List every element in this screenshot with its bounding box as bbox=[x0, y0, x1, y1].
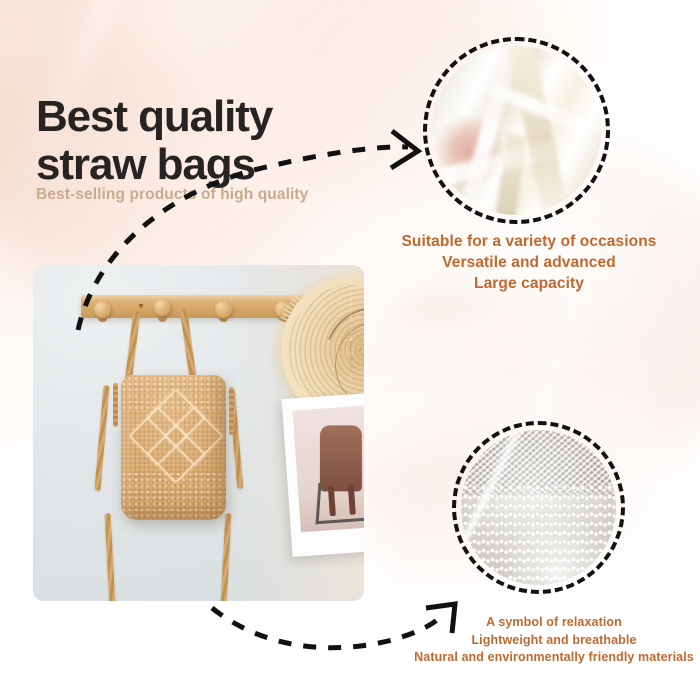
dashed-circle-border bbox=[452, 421, 625, 594]
poster-canvas: Best quality straw bags Best-selling pro… bbox=[0, 0, 700, 700]
page-subtitle: Best-selling products of high quality bbox=[36, 186, 476, 204]
coat-peg bbox=[94, 301, 111, 318]
product-photo bbox=[33, 265, 364, 601]
bag-tassel-right bbox=[229, 387, 234, 435]
macrame-straw-bag bbox=[121, 375, 226, 520]
detail-inset-bottom bbox=[452, 421, 625, 594]
detail-inset-top bbox=[423, 37, 610, 224]
print-chair bbox=[316, 479, 364, 525]
page-title: Best quality straw bags bbox=[36, 93, 456, 189]
feature-item: Lightweight and breathable bbox=[409, 632, 699, 650]
feature-item: Suitable for a variety of occasions bbox=[379, 231, 679, 252]
framed-photo-print bbox=[282, 391, 364, 557]
coat-peg bbox=[154, 299, 171, 316]
rail-screw bbox=[139, 304, 143, 308]
feature-list-top: Suitable for a variety of occasions Vers… bbox=[379, 231, 679, 294]
feature-item: Natural and environmentally friendly mat… bbox=[409, 649, 699, 667]
feature-list-bottom: A symbol of relaxation Lightweight and b… bbox=[409, 614, 699, 667]
feature-item: Large capacity bbox=[379, 273, 679, 294]
feature-item: Versatile and advanced bbox=[379, 252, 679, 273]
bag-tassel-left bbox=[113, 383, 118, 427]
feature-item: A symbol of relaxation bbox=[409, 614, 699, 632]
print-image bbox=[292, 404, 364, 533]
bag-shading bbox=[121, 375, 226, 520]
dashed-circle-border bbox=[423, 37, 610, 224]
coat-peg bbox=[215, 301, 232, 318]
